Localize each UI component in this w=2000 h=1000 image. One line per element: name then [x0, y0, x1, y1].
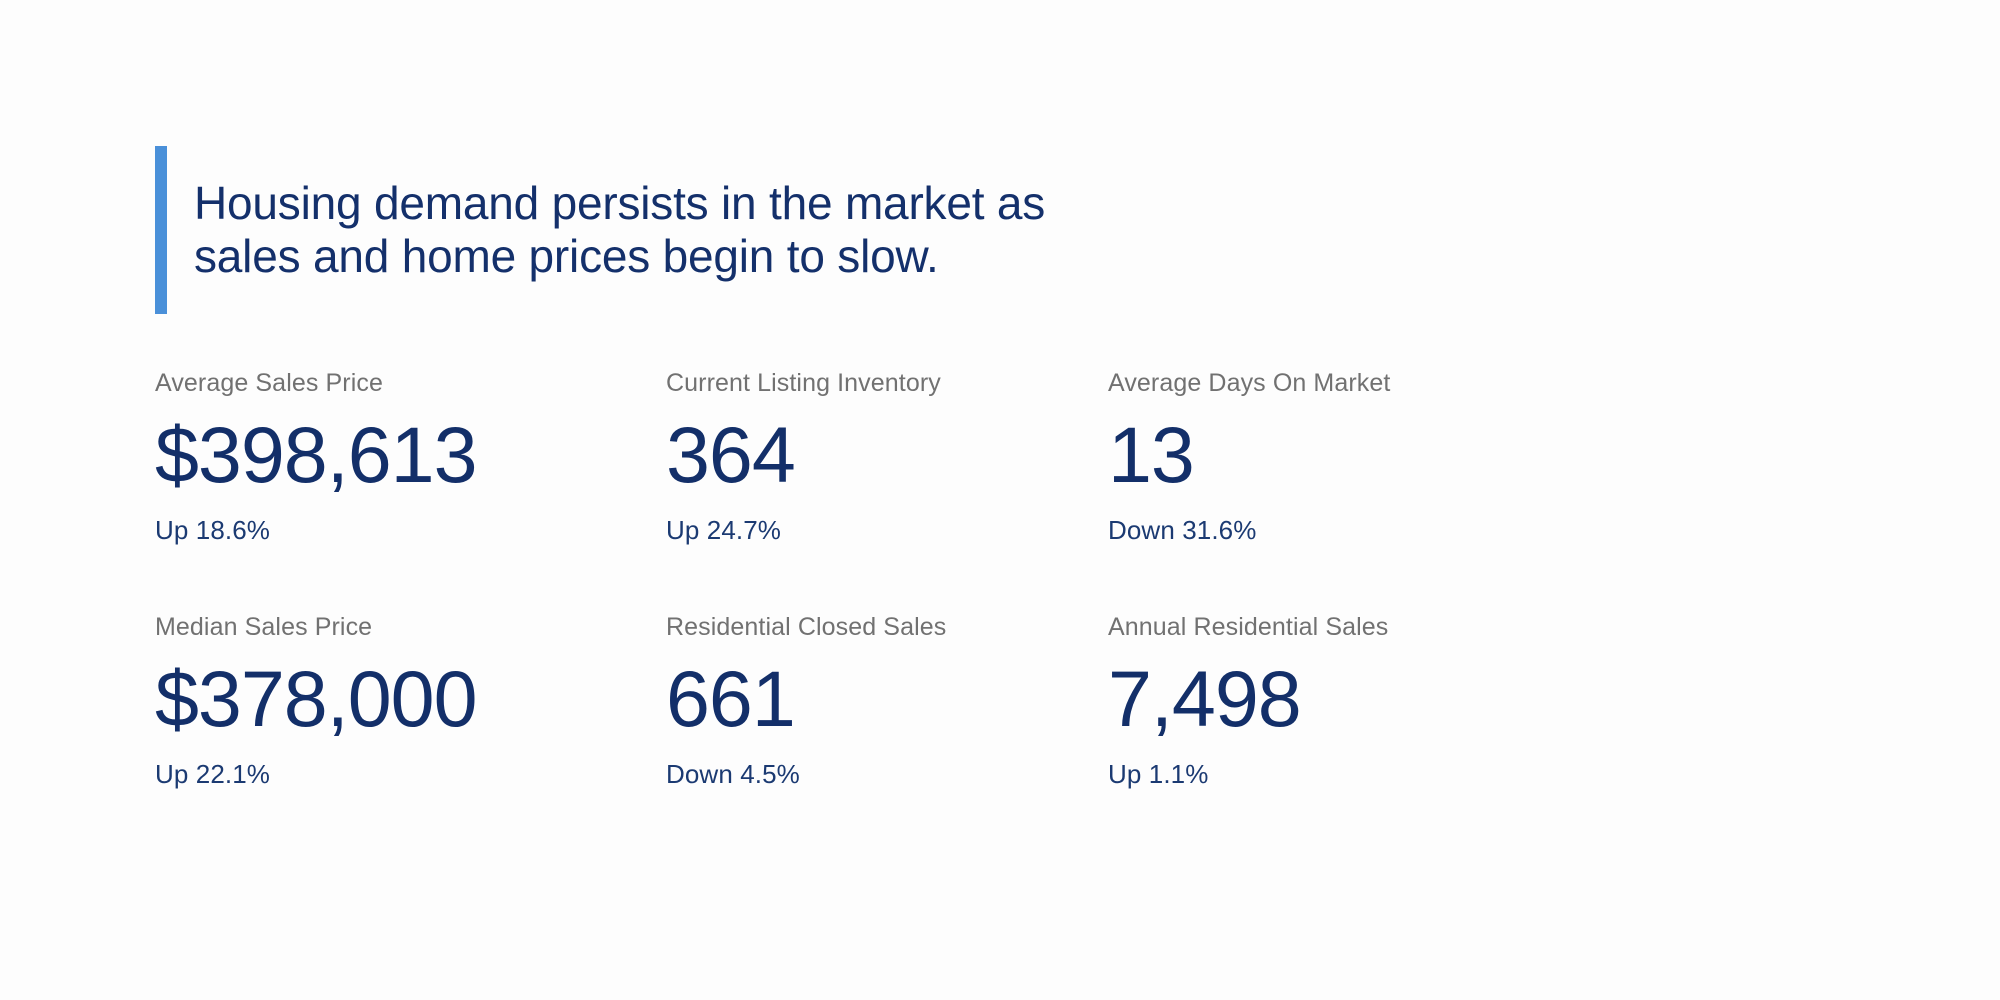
- stat-value: 7,498: [1108, 659, 1528, 738]
- stat-block-current-listing-inventory: Current Listing Inventory 364 Up 24.7%: [666, 368, 1108, 546]
- stat-delta: Up 22.1%: [155, 759, 666, 790]
- stat-label: Median Sales Price: [155, 612, 666, 642]
- stat-block-average-days-on-market: Average Days On Market 13 Down 31.6%: [1108, 368, 1528, 546]
- stat-label: Average Sales Price: [155, 368, 666, 398]
- stat-value: $398,613: [155, 415, 666, 494]
- stat-block-average-sales-price: Average Sales Price $398,613 Up 18.6%: [155, 368, 666, 546]
- stats-grid: Average Sales Price $398,613 Up 18.6% Cu…: [155, 368, 1515, 790]
- stat-delta: Up 18.6%: [155, 515, 666, 546]
- stat-block-residential-closed-sales: Residential Closed Sales 661 Down 4.5%: [666, 612, 1108, 790]
- stat-label: Annual Residential Sales: [1108, 612, 1528, 642]
- stat-label: Residential Closed Sales: [666, 612, 1108, 642]
- stat-block-annual-residential-sales: Annual Residential Sales 7,498 Up 1.1%: [1108, 612, 1528, 790]
- stat-value: $378,000: [155, 659, 666, 738]
- stat-delta: Up 24.7%: [666, 515, 1108, 546]
- page-title: Housing demand persists in the market as…: [194, 177, 1045, 284]
- accent-bar: [155, 146, 167, 314]
- housing-market-stats-page: Housing demand persists in the market as…: [0, 0, 2000, 1000]
- stat-value: 661: [666, 659, 1108, 738]
- stat-label: Current Listing Inventory: [666, 368, 1108, 398]
- stat-delta: Down 4.5%: [666, 759, 1108, 790]
- stat-label: Average Days On Market: [1108, 368, 1528, 398]
- stat-delta: Down 31.6%: [1108, 515, 1528, 546]
- stat-value: 13: [1108, 415, 1528, 494]
- stat-delta: Up 1.1%: [1108, 759, 1528, 790]
- stat-value: 364: [666, 415, 1108, 494]
- headline-block: Housing demand persists in the market as…: [155, 146, 1045, 314]
- stat-block-median-sales-price: Median Sales Price $378,000 Up 22.1%: [155, 612, 666, 790]
